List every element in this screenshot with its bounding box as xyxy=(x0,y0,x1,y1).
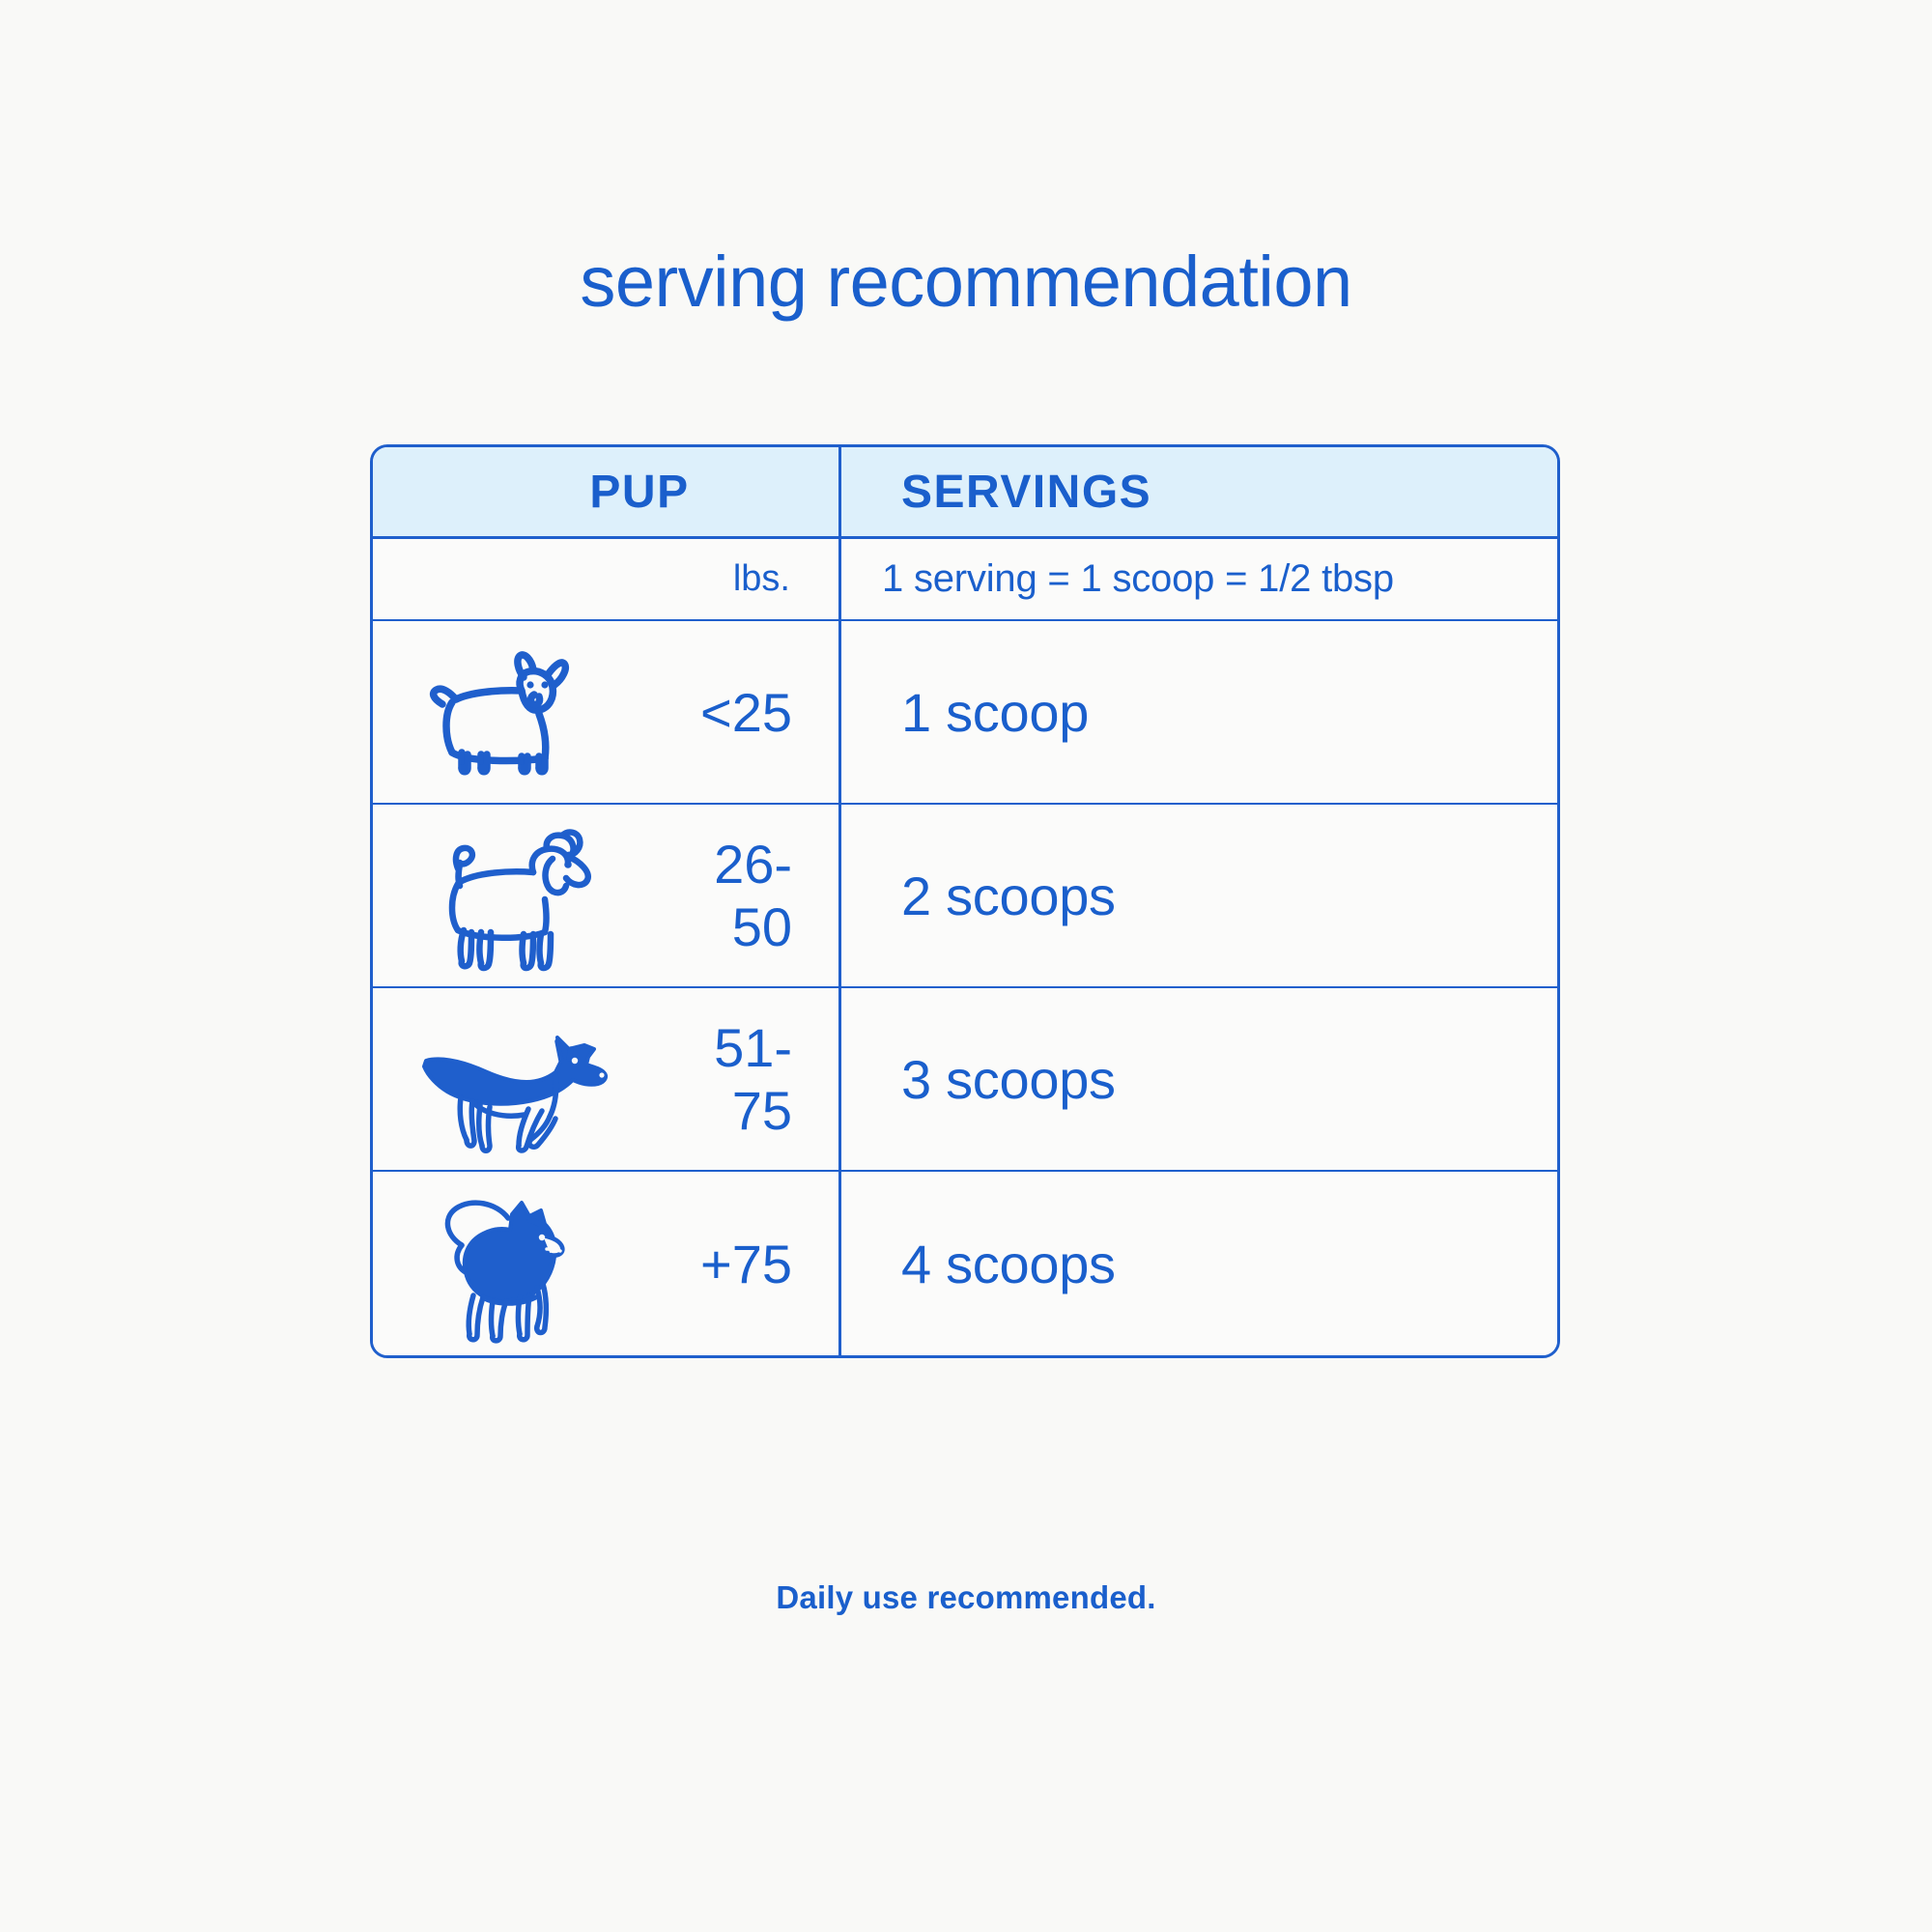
row-weight: <25 xyxy=(663,681,838,744)
column-sublabel-serving-equivalence: 1 serving = 1 scoop = 1/2 tbsp xyxy=(841,557,1394,601)
row-weight: +75 xyxy=(663,1233,838,1295)
row-cell-servings: 1 scoop xyxy=(841,621,1557,803)
row-cell-pup: +75 xyxy=(373,1172,841,1355)
row-cell-servings: 3 scoops xyxy=(841,988,1557,1170)
xlarge-dog-husky-icon xyxy=(373,1181,663,1346)
row-cell-pup: 51-75 xyxy=(373,988,841,1170)
column-header-pup: PUP xyxy=(373,466,838,519)
medium-dog-poodle-icon xyxy=(373,813,663,978)
page-title: serving recommendation xyxy=(0,246,1932,318)
table-row: 26-50 2 scoops xyxy=(373,805,1557,988)
header-cell-servings: SERVINGS xyxy=(841,447,1557,536)
subheader-cell-pup: lbs. xyxy=(373,539,841,619)
header-cell-pup: PUP xyxy=(373,447,841,536)
table-row: 51-75 3 scoops xyxy=(373,988,1557,1172)
serving-recommendation-card: serving recommendation PUP SERVINGS lbs.… xyxy=(0,0,1932,1932)
row-servings: 2 scoops xyxy=(841,865,1116,927)
row-cell-pup: <25 xyxy=(373,621,841,803)
row-servings: 4 scoops xyxy=(841,1233,1116,1295)
row-weight: 26-50 xyxy=(663,833,838,958)
serving-table: PUP SERVINGS lbs. 1 serving = 1 scoop = … xyxy=(370,444,1560,1358)
footer-note: Daily use recommended. xyxy=(0,1579,1932,1616)
row-cell-servings: 2 scoops xyxy=(841,805,1557,986)
table-row: +75 4 scoops xyxy=(373,1172,1557,1355)
row-servings: 1 scoop xyxy=(841,681,1089,744)
large-dog-shepherd-icon xyxy=(373,997,663,1161)
row-cell-servings: 4 scoops xyxy=(841,1172,1557,1355)
row-servings: 3 scoops xyxy=(841,1048,1116,1111)
row-weight: 51-75 xyxy=(663,1016,838,1142)
table-row: <25 1 scoop xyxy=(373,621,1557,805)
table-header-row: PUP SERVINGS xyxy=(373,447,1557,539)
column-header-servings: SERVINGS xyxy=(841,466,1151,519)
column-sublabel-lbs: lbs. xyxy=(373,558,838,600)
subheader-cell-servings: 1 serving = 1 scoop = 1/2 tbsp xyxy=(841,539,1557,619)
table-subheader-row: lbs. 1 serving = 1 scoop = 1/2 tbsp xyxy=(373,539,1557,621)
small-dog-corgi-icon xyxy=(373,630,663,794)
row-cell-pup: 26-50 xyxy=(373,805,841,986)
